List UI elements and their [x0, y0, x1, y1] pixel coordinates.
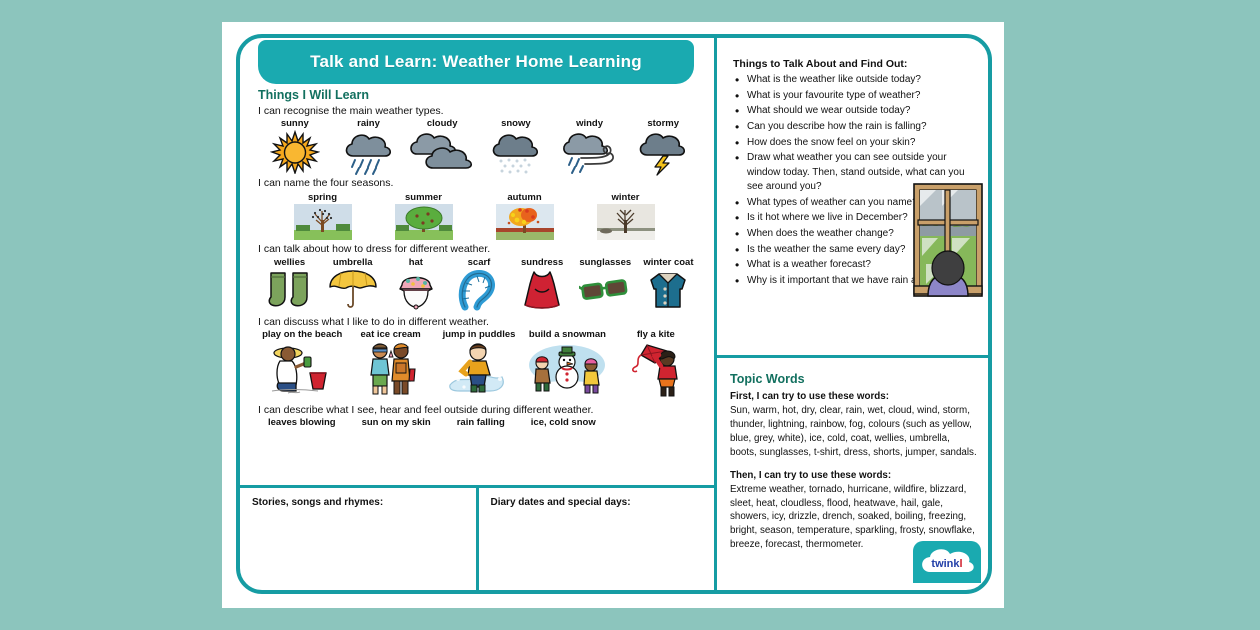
activity-label: fly a kite — [637, 329, 675, 340]
sense-word-rain-falling: rain falling — [457, 417, 505, 428]
clothing-label: scarf — [468, 257, 491, 268]
weather-label: sunny — [281, 118, 309, 129]
activity-label: jump in puddles — [443, 329, 516, 340]
clothing-label: umbrella — [333, 257, 373, 268]
statement-activities: I can discuss what I like to do in diffe… — [258, 316, 700, 328]
header-banner: Talk and Learn: Weather Home Learning — [258, 40, 694, 84]
question-item: What is the weather like outside today? — [733, 73, 978, 87]
activity-item-build-a-snowman: build a snowman — [523, 329, 611, 397]
sunglasses-icon — [579, 269, 631, 311]
activities-row: play on the beach e — [258, 329, 700, 401]
first-words-body: Sun, warm, hot, dry, clear, rain, wet, c… — [730, 404, 978, 460]
season-item-summer: summer — [373, 192, 474, 240]
scarf-icon — [457, 269, 501, 311]
storm-cloud-icon — [635, 130, 691, 176]
question-item: Can you describe how the rain is falling… — [733, 120, 978, 134]
wind-cloud-icon — [559, 130, 621, 176]
weather-types-row: sunny rainy — [258, 118, 700, 174]
season-item-winter: winter — [575, 192, 676, 240]
then-words-label: Then, I can try to use these words: — [730, 470, 978, 481]
kite-illustration — [625, 341, 687, 397]
page-title: Talk and Learn: Weather Home Learning — [310, 52, 642, 72]
box-label: Diary dates and special days: — [491, 497, 715, 508]
clothing-item-hat: hat — [384, 257, 447, 311]
umbrella-icon — [327, 269, 379, 311]
autumn-tree-photo — [496, 204, 554, 240]
weather-item-snowy: snowy — [479, 118, 553, 176]
weather-label: windy — [576, 118, 603, 129]
twinkl-wordmark: twinkl — [931, 558, 962, 570]
sense-word-sun-on-my-skin: sun on my skin — [362, 417, 431, 428]
clothing-item-winter-coat: winter coat — [637, 257, 700, 311]
statement-weather: I can recognise the main weather types. — [258, 105, 700, 117]
sense-word-leaves-blowing: leaves blowing — [268, 417, 336, 428]
winter-tree-photo — [597, 204, 655, 240]
weather-label: snowy — [501, 118, 531, 129]
weather-item-rainy: rainy — [332, 118, 406, 176]
clothing-label: sundress — [521, 257, 563, 268]
seasons-row: spring — [258, 192, 700, 240]
snowman-illustration — [526, 341, 608, 397]
screenshot-stage: Talk and Learn: Weather Home Learning Th… — [0, 0, 1260, 630]
clothing-label: sunglasses — [579, 257, 631, 268]
weather-label: rainy — [357, 118, 380, 129]
question-item: How does the snow feel on your skin? — [733, 136, 978, 150]
weather-item-stormy: stormy — [626, 118, 700, 176]
ice-cream-illustration — [363, 341, 419, 397]
talk-about-heading: Things to Talk About and Find Out: — [733, 58, 978, 70]
activity-item-eat-ice-cream: eat ice cream — [346, 329, 434, 397]
box-diary-dates-special-days[interactable]: Diary dates and special days: — [476, 488, 715, 590]
talk-about-section: Things to Talk About and Find Out: What … — [717, 38, 992, 288]
clothing-item-wellies: wellies — [258, 257, 321, 311]
clothing-item-umbrella: umbrella — [321, 257, 384, 311]
wellington-boots-icon — [265, 269, 315, 311]
twinkl-cloud-logo: twinkl — [918, 548, 976, 576]
clouds-icon — [407, 130, 477, 174]
activity-item-jump-in-puddles: jump in puddles — [435, 329, 523, 397]
weather-label: cloudy — [427, 118, 458, 129]
beach-play-illustration — [266, 341, 338, 397]
bottom-boxes: Stories, songs and rhymes: Diary dates a… — [240, 485, 714, 590]
activity-item-fly-a-kite: fly a kite — [612, 329, 700, 397]
activity-label: eat ice cream — [361, 329, 421, 340]
statement-seasons: I can name the four seasons. — [258, 177, 700, 189]
question-item: What should we wear outside today? — [733, 104, 978, 118]
activity-label: build a snowman — [529, 329, 606, 340]
summer-tree-photo — [395, 204, 453, 240]
clothing-label: hat — [409, 257, 423, 268]
clothing-item-scarf: scarf — [447, 257, 510, 311]
senses-row: leaves blowing sun on my skin rain falli… — [258, 417, 700, 429]
season-label: winter — [612, 192, 640, 203]
rain-cloud-icon — [341, 130, 397, 176]
season-label: summer — [405, 192, 442, 203]
question-item: What is your favourite type of weather? — [733, 89, 978, 103]
season-label: autumn — [507, 192, 541, 203]
sundress-icon — [517, 269, 567, 311]
activity-item-play-on-the-beach: play on the beach — [258, 329, 346, 397]
statement-dress: I can talk about how to dress for differ… — [258, 243, 700, 255]
statement-senses: I can describe what I see, hear and feel… — [258, 404, 700, 416]
topic-words-heading: Topic Words — [730, 372, 978, 386]
season-item-autumn: autumn — [474, 192, 575, 240]
sense-word-ice-cold-snow: ice, cold snow — [531, 417, 596, 428]
snow-cloud-icon — [488, 130, 544, 176]
season-label: spring — [308, 192, 337, 203]
clothing-label: wellies — [274, 257, 305, 268]
child-at-window-illustration — [912, 182, 984, 300]
season-item-spring: spring — [272, 192, 373, 240]
weather-item-cloudy: cloudy — [405, 118, 479, 174]
sun-hat-icon — [392, 269, 440, 311]
section-title-things-i-will-learn: Things I Will Learn — [258, 88, 700, 102]
clothing-item-sundress: sundress — [511, 257, 574, 311]
sun-icon — [270, 130, 320, 174]
weather-label: stormy — [647, 118, 679, 129]
spring-tree-photo — [294, 204, 352, 240]
twinkl-logo[interactable]: twinkl — [913, 541, 981, 583]
clothing-row: wellies umbrella hat — [258, 257, 700, 313]
weather-item-sunny: sunny — [258, 118, 332, 174]
weather-item-windy: windy — [553, 118, 627, 176]
box-label: Stories, songs and rhymes: — [252, 497, 476, 508]
puddle-jump-illustration — [444, 341, 514, 397]
activity-label: play on the beach — [262, 329, 342, 340]
clothing-item-sunglasses: sunglasses — [574, 257, 637, 311]
first-words-label: First, I can try to use these words: — [730, 391, 978, 402]
clothing-label: winter coat — [643, 257, 693, 268]
box-stories-songs-rhymes[interactable]: Stories, songs and rhymes: — [240, 488, 476, 590]
winter-coat-icon — [645, 269, 691, 311]
